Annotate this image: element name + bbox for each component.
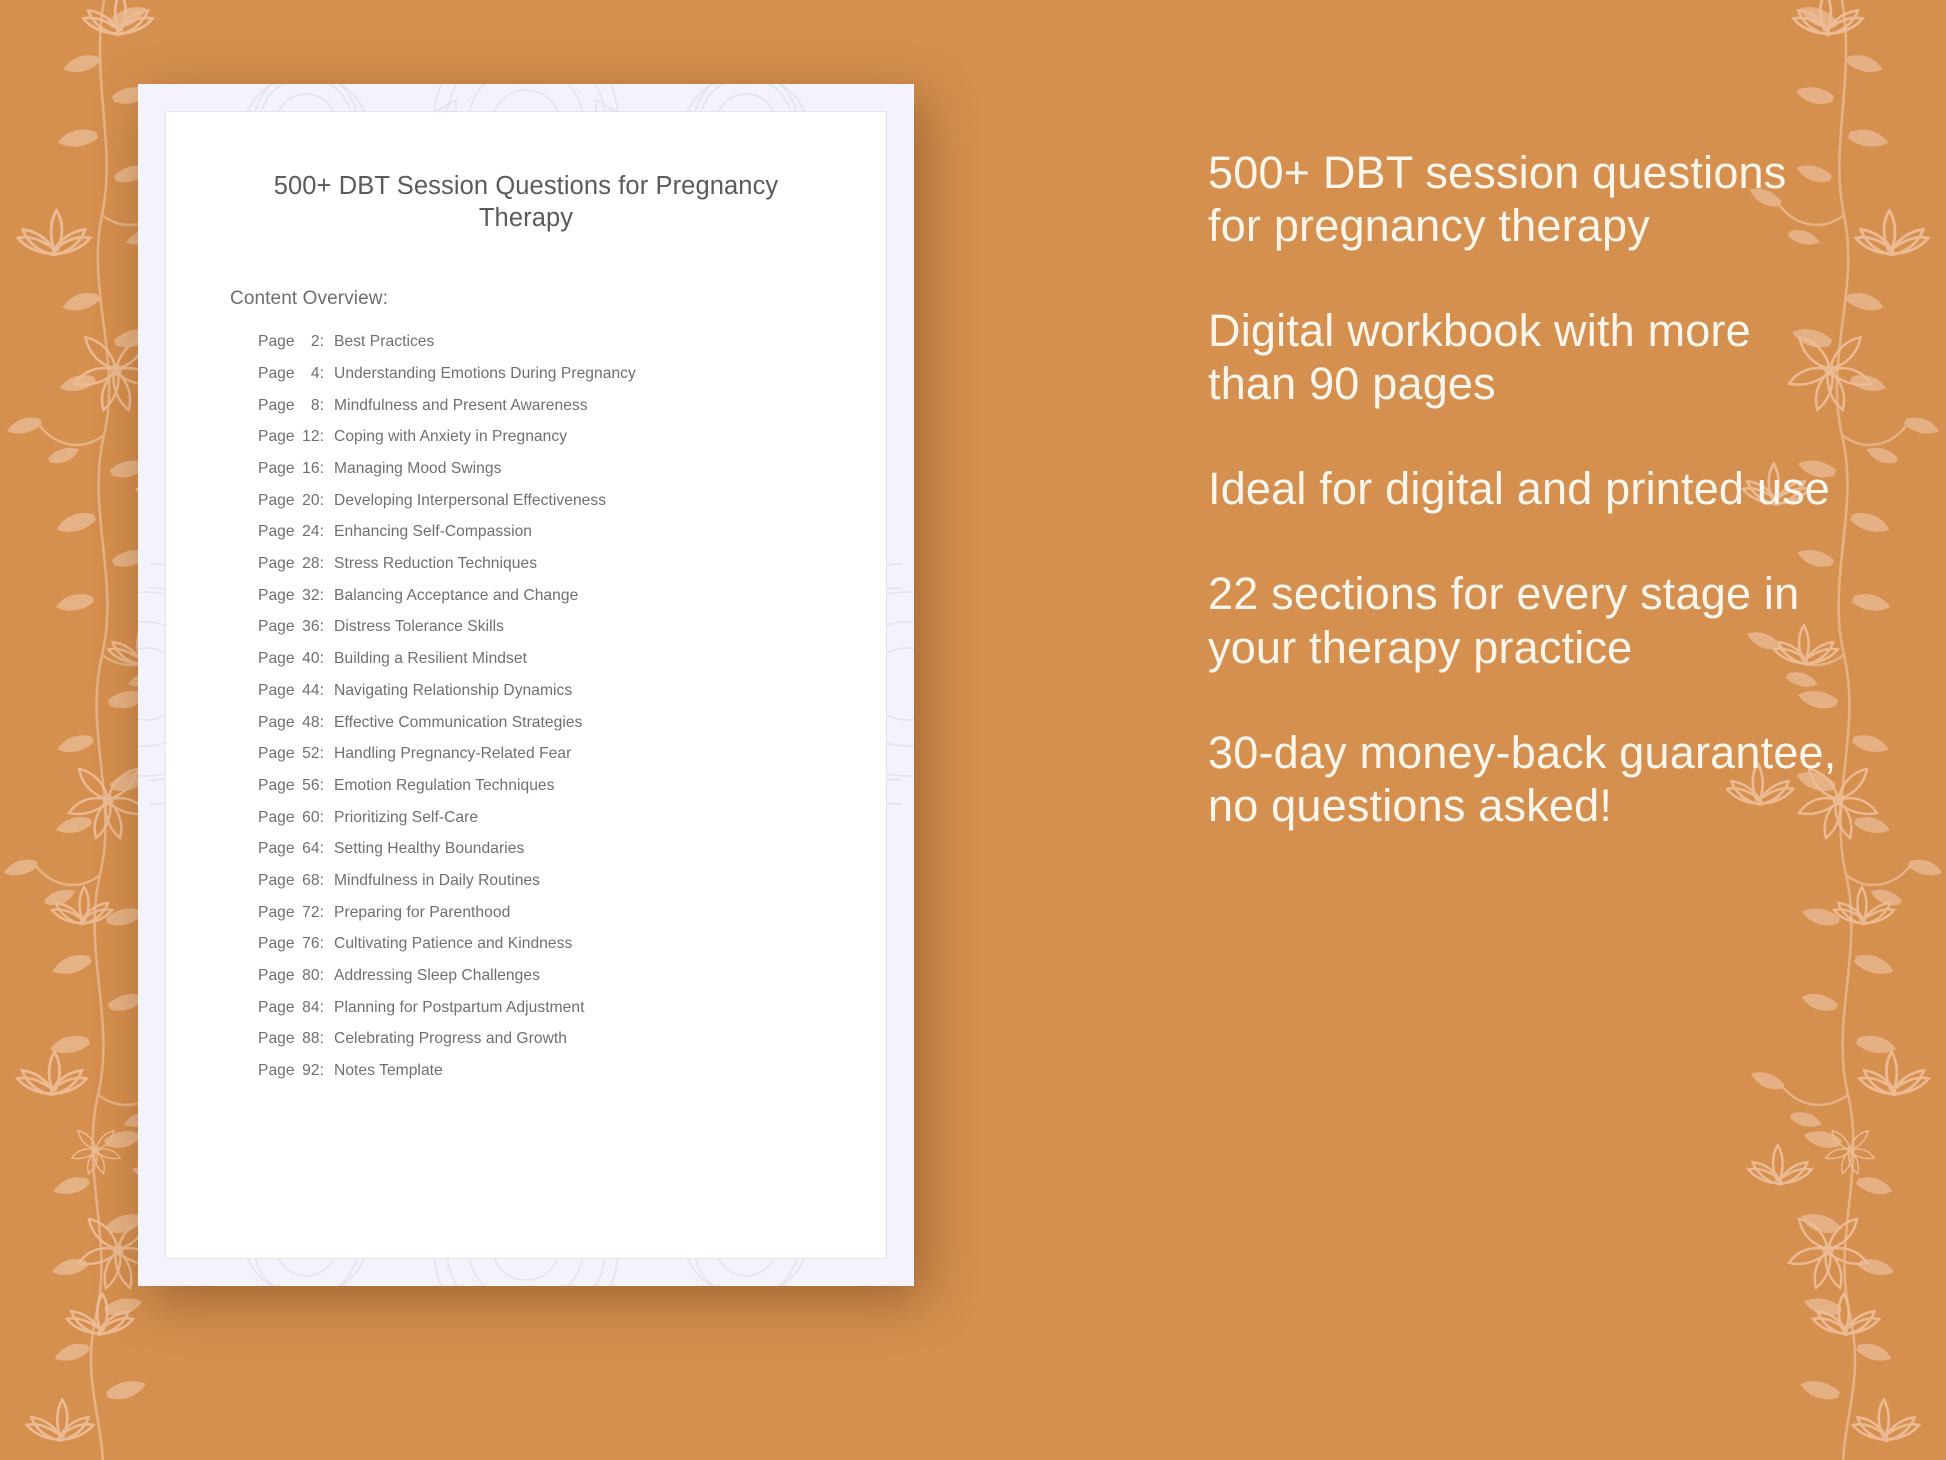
- toc-page-word: Page: [258, 398, 295, 414]
- toc-page-word: Page: [258, 461, 295, 477]
- toc-colon: :: [320, 461, 324, 477]
- toc-entry-title: Planning for Postpartum Adjustment: [334, 1000, 584, 1016]
- toc-colon: :: [320, 841, 324, 857]
- marketing-paragraph: Ideal for digital and printed use: [1208, 462, 1848, 515]
- toc-page-word: Page: [258, 588, 295, 604]
- marketing-copy: 500+ DBT session questions for pregnancy…: [1208, 146, 1848, 832]
- toc-page-number: 16: [295, 461, 320, 477]
- toc-page-number: 76: [295, 936, 320, 952]
- toc-page-number: 84: [295, 1000, 320, 1016]
- toc-colon: :: [320, 778, 324, 794]
- toc-colon: :: [320, 651, 324, 667]
- toc-colon: :: [320, 524, 324, 540]
- toc-page-number: 52: [295, 746, 320, 762]
- toc-colon: :: [320, 398, 324, 414]
- toc-entry-title: Preparing for Parenthood: [334, 905, 510, 921]
- document-preview[interactable]: 500+ DBT Session Questions for Pregnancy…: [138, 84, 914, 1286]
- toc-page-number: 4: [295, 366, 320, 382]
- toc-entry-title: Understanding Emotions During Pregnancy: [334, 366, 636, 382]
- toc-entry: Page28:Stress Reduction Techniques: [258, 556, 830, 588]
- toc-page-word: Page: [258, 810, 295, 826]
- toc-page-number: 2: [295, 334, 320, 350]
- toc-page-word: Page: [258, 841, 295, 857]
- toc-entry-title: Mindfulness in Daily Routines: [334, 873, 540, 889]
- toc-entry: Page36:Distress Tolerance Skills: [258, 619, 830, 651]
- toc-page-word: Page: [258, 873, 295, 889]
- toc-colon: :: [320, 968, 324, 984]
- toc-entry: Page76:Cultivating Patience and Kindness: [258, 936, 830, 968]
- toc-page-number: 28: [295, 556, 320, 572]
- toc-page-word: Page: [258, 968, 295, 984]
- toc-page-word: Page: [258, 334, 295, 350]
- toc-page-number: 40: [295, 651, 320, 667]
- toc-entry: Page44:Navigating Relationship Dynamics: [258, 683, 830, 715]
- toc-entry: Page52:Handling Pregnancy-Related Fear: [258, 746, 830, 778]
- toc-colon: :: [320, 334, 324, 350]
- toc-entry-title: Best Practices: [334, 334, 434, 350]
- toc-entry: Page32:Balancing Acceptance and Change: [258, 588, 830, 620]
- toc-entry: Page12:Coping with Anxiety in Pregnancy: [258, 429, 830, 461]
- toc-page-word: Page: [258, 366, 295, 382]
- toc-entry: Page40:Building a Resilient Mindset: [258, 651, 830, 683]
- toc-entry-title: Mindfulness and Present Awareness: [334, 398, 588, 414]
- toc-page-word: Page: [258, 1031, 295, 1047]
- toc-entry: Page24:Enhancing Self-Compassion: [258, 524, 830, 556]
- document-page: 500+ DBT Session Questions for Pregnancy…: [166, 112, 886, 1258]
- toc-entry-title: Prioritizing Self-Care: [334, 810, 478, 826]
- toc-page-number: 80: [295, 968, 320, 984]
- toc-colon: :: [320, 588, 324, 604]
- toc-page-number: 32: [295, 588, 320, 604]
- toc-entry-title: Addressing Sleep Challenges: [334, 968, 540, 984]
- toc-colon: :: [320, 429, 324, 445]
- toc-page-word: Page: [258, 556, 295, 572]
- toc-entry-title: Setting Healthy Boundaries: [334, 841, 524, 857]
- toc-entry-title: Cultivating Patience and Kindness: [334, 936, 572, 952]
- toc-page-number: 8: [295, 398, 320, 414]
- toc-entry-title: Coping with Anxiety in Pregnancy: [334, 429, 567, 445]
- toc-page-word: Page: [258, 1000, 295, 1016]
- toc-colon: :: [320, 1031, 324, 1047]
- toc-entry-title: Effective Communication Strategies: [334, 715, 582, 731]
- toc-colon: :: [320, 619, 324, 635]
- toc-entry: Page80:Addressing Sleep Challenges: [258, 968, 830, 1000]
- toc-entry: Page72:Preparing for Parenthood: [258, 905, 830, 937]
- toc-entry: Page48:Effective Communication Strategie…: [258, 715, 830, 747]
- toc-entry-title: Distress Tolerance Skills: [334, 619, 504, 635]
- toc-page-word: Page: [258, 429, 295, 445]
- marketing-paragraph: 30-day money-back guarantee, no question…: [1208, 726, 1848, 832]
- toc-colon: :: [320, 1063, 324, 1079]
- toc-page-number: 72: [295, 905, 320, 921]
- toc-page-number: 88: [295, 1031, 320, 1047]
- toc-page-word: Page: [258, 936, 295, 952]
- toc-colon: :: [320, 810, 324, 826]
- toc-entry: Page64:Setting Healthy Boundaries: [258, 841, 830, 873]
- table-of-contents: Page2:Best PracticesPage4:Understanding …: [258, 334, 830, 1095]
- marketing-paragraph: Digital workbook with more than 90 pages: [1208, 304, 1848, 410]
- toc-entry: Page92:Notes Template: [258, 1063, 830, 1095]
- marketing-paragraph: 22 sections for every stage in your ther…: [1208, 567, 1848, 673]
- toc-entry-title: Building a Resilient Mindset: [334, 651, 527, 667]
- toc-entry: Page56:Emotion Regulation Techniques: [258, 778, 830, 810]
- toc-colon: :: [320, 683, 324, 699]
- toc-page-number: 44: [295, 683, 320, 699]
- toc-entry-title: Notes Template: [334, 1063, 443, 1079]
- toc-colon: :: [320, 715, 324, 731]
- toc-entry-title: Balancing Acceptance and Change: [334, 588, 578, 604]
- toc-entry: Page68:Mindfulness in Daily Routines: [258, 873, 830, 905]
- toc-page-number: 56: [295, 778, 320, 794]
- toc-page-word: Page: [258, 619, 295, 635]
- toc-entry: Page88:Celebrating Progress and Growth: [258, 1031, 830, 1063]
- toc-page-number: 64: [295, 841, 320, 857]
- toc-page-number: 68: [295, 873, 320, 889]
- toc-colon: :: [320, 746, 324, 762]
- toc-entry: Page16:Managing Mood Swings: [258, 461, 830, 493]
- toc-entry: Page84:Planning for Postpartum Adjustmen…: [258, 1000, 830, 1032]
- toc-entry-title: Enhancing Self-Compassion: [334, 524, 532, 540]
- toc-page-word: Page: [258, 715, 295, 731]
- toc-page-word: Page: [258, 905, 295, 921]
- toc-page-word: Page: [258, 651, 295, 667]
- toc-entry-title: Navigating Relationship Dynamics: [334, 683, 572, 699]
- toc-page-number: 36: [295, 619, 320, 635]
- toc-page-word: Page: [258, 524, 295, 540]
- toc-page-word: Page: [258, 1063, 295, 1079]
- toc-entry: Page60:Prioritizing Self-Care: [258, 810, 830, 842]
- toc-entry-title: Emotion Regulation Techniques: [334, 778, 555, 794]
- toc-entry-title: Developing Interpersonal Effectiveness: [334, 493, 606, 509]
- toc-page-number: 48: [295, 715, 320, 731]
- toc-entry-title: Managing Mood Swings: [334, 461, 501, 477]
- toc-page-word: Page: [258, 493, 295, 509]
- toc-page-number: 24: [295, 524, 320, 540]
- toc-colon: :: [320, 936, 324, 952]
- toc-colon: :: [320, 493, 324, 509]
- toc-page-number: 12: [295, 429, 320, 445]
- toc-colon: :: [320, 556, 324, 572]
- toc-page-word: Page: [258, 746, 295, 762]
- toc-page-word: Page: [258, 683, 295, 699]
- toc-colon: :: [320, 366, 324, 382]
- toc-page-number: 92: [295, 1063, 320, 1079]
- page-title: 500+ DBT Session Questions for Pregnancy…: [222, 170, 830, 234]
- toc-entry-title: Celebrating Progress and Growth: [334, 1031, 567, 1047]
- toc-entry: Page8:Mindfulness and Present Awareness: [258, 398, 830, 430]
- toc-page-number: 60: [295, 810, 320, 826]
- toc-entry-title: Handling Pregnancy-Related Fear: [334, 746, 571, 762]
- marketing-paragraph: 500+ DBT session questions for pregnancy…: [1208, 146, 1848, 252]
- toc-entry-title: Stress Reduction Techniques: [334, 556, 537, 572]
- toc-entry: Page2:Best Practices: [258, 334, 830, 366]
- toc-colon: :: [320, 1000, 324, 1016]
- document-mat: 500+ DBT Session Questions for Pregnancy…: [138, 84, 914, 1286]
- toc-page-number: 20: [295, 493, 320, 509]
- toc-entry: Page20:Developing Interpersonal Effectiv…: [258, 493, 830, 525]
- toc-page-word: Page: [258, 778, 295, 794]
- toc-colon: :: [320, 873, 324, 889]
- toc-entry: Page4:Understanding Emotions During Preg…: [258, 366, 830, 398]
- toc-colon: :: [320, 905, 324, 921]
- content-overview-label: Content Overview:: [230, 288, 830, 310]
